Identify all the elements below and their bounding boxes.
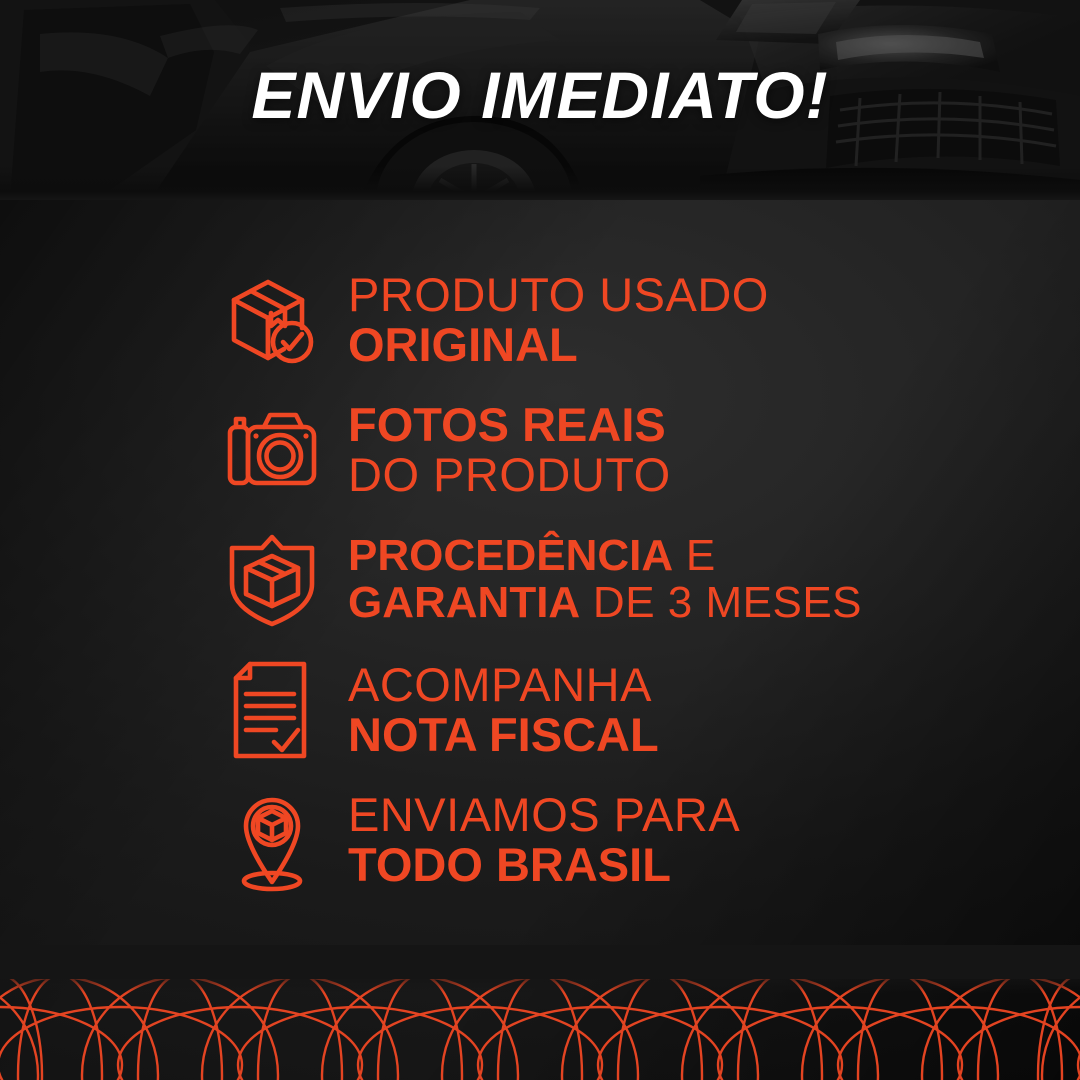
feature-line-1: FOTOS REAIS — [348, 400, 671, 450]
banner-bottom-fade — [0, 166, 1080, 200]
footer-ornament — [0, 945, 1080, 1080]
feature-line-1: PRODUTO USADO — [348, 270, 769, 320]
feature-line-2: TODO BRASIL — [348, 840, 740, 890]
list-item: PRODUTO USADO ORIGINAL — [222, 255, 1080, 385]
promo-poster: ENVIO IMEDIATO! — [0, 0, 1080, 1080]
list-item: ENVIAMOS PARA TODO BRASIL — [222, 775, 1080, 905]
interlocking-circles-ornament-icon — [0, 945, 1080, 1080]
list-item-text: PRODUTO USADO ORIGINAL — [348, 270, 769, 370]
feature-line-2: ORIGINAL — [348, 320, 769, 370]
list-item: ACOMPANHA NOTA FISCAL — [222, 645, 1080, 775]
feature-line-2-bold: GARANTIA — [348, 578, 580, 627]
list-item: PROCEDÊNCIA E GARANTIA DE 3 MESES — [222, 515, 1080, 645]
header-banner: ENVIO IMEDIATO! — [0, 0, 1080, 200]
map-pin-box-icon — [222, 790, 322, 890]
feature-line-1-bold: PROCEDÊNCIA — [348, 531, 673, 580]
feature-line-2: DO PRODUTO — [348, 450, 671, 500]
list-item-text: PROCEDÊNCIA E GARANTIA DE 3 MESES — [348, 533, 862, 626]
list-item-text: ENVIAMOS PARA TODO BRASIL — [348, 790, 740, 890]
shield-box-icon — [222, 530, 322, 630]
list-item-text: ACOMPANHA NOTA FISCAL — [348, 660, 659, 760]
feature-line-2: GARANTIA DE 3 MESES — [348, 580, 862, 627]
feature-list: PRODUTO USADO ORIGINAL — [222, 255, 1080, 905]
feature-line-1: ACOMPANHA — [348, 660, 659, 710]
feature-line-1: ENVIAMOS PARA — [348, 790, 740, 840]
feature-line-1-light: E — [673, 531, 716, 580]
list-item: FOTOS REAIS DO PRODUTO — [222, 385, 1080, 515]
feature-line-2: NOTA FISCAL — [348, 710, 659, 760]
list-item-text: FOTOS REAIS DO PRODUTO — [348, 400, 671, 500]
feature-line-1: PROCEDÊNCIA E — [348, 533, 862, 580]
page-title: ENVIO IMEDIATO! — [0, 62, 1080, 128]
camera-icon — [222, 400, 322, 500]
package-check-icon — [222, 270, 322, 370]
invoice-document-icon — [222, 660, 322, 760]
feature-line-2-light: DE 3 MESES — [580, 578, 862, 627]
